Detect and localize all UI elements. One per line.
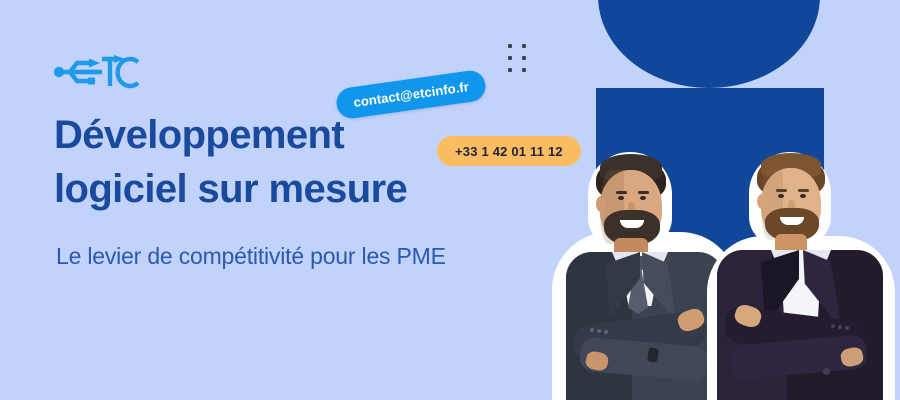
grid-dot (522, 68, 526, 72)
person-right (705, 152, 895, 400)
half-circle-shape-top (598, 0, 820, 88)
usb-dot (54, 67, 64, 77)
grid-dot (522, 44, 526, 48)
headline-line-2: logiciel sur mesure (54, 162, 524, 216)
subtitle: Le levier de compétitivité pour les PME (56, 243, 446, 270)
businessmen-photo (540, 152, 900, 400)
etc-logo-icon (50, 48, 142, 96)
grid-dot (508, 68, 512, 72)
grid-dot (508, 56, 512, 60)
hero-banner: Développement logiciel sur mesure Le lev… (0, 0, 900, 400)
grid-dot (508, 44, 512, 48)
etc-logo[interactable] (50, 48, 142, 96)
grid-dot (522, 56, 526, 60)
email-badge-label: contact@etcinfo.fr (353, 79, 470, 110)
dot-grid-ornament (508, 44, 526, 72)
